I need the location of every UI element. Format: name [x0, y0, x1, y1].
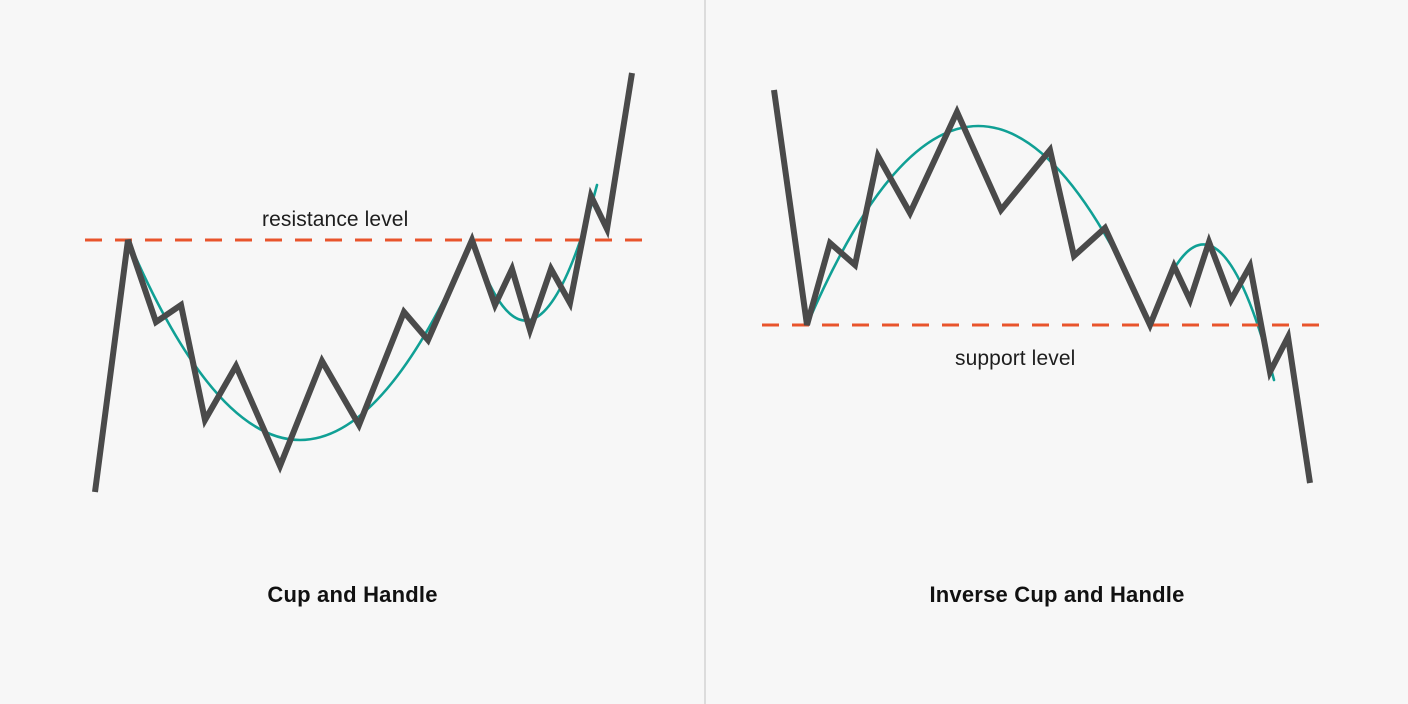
panel-cup-and-handle: resistance level Cup and Handle: [0, 0, 705, 704]
price-action-line: [774, 90, 1310, 483]
panel-title-cup-and-handle: Cup and Handle: [0, 582, 705, 608]
price-action-line: [95, 73, 632, 492]
support-level-label: support level: [955, 347, 1075, 371]
resistance-level-label: resistance level: [262, 208, 408, 232]
pattern-illustration-root: resistance level Cup and Handle support …: [0, 0, 1408, 704]
panel-title-inverse-cup-and-handle: Inverse Cup and Handle: [706, 582, 1408, 608]
inverse-handle-curve: [1150, 244, 1274, 380]
panel-inverse-cup-and-handle: support level Inverse Cup and Handle: [706, 0, 1408, 704]
